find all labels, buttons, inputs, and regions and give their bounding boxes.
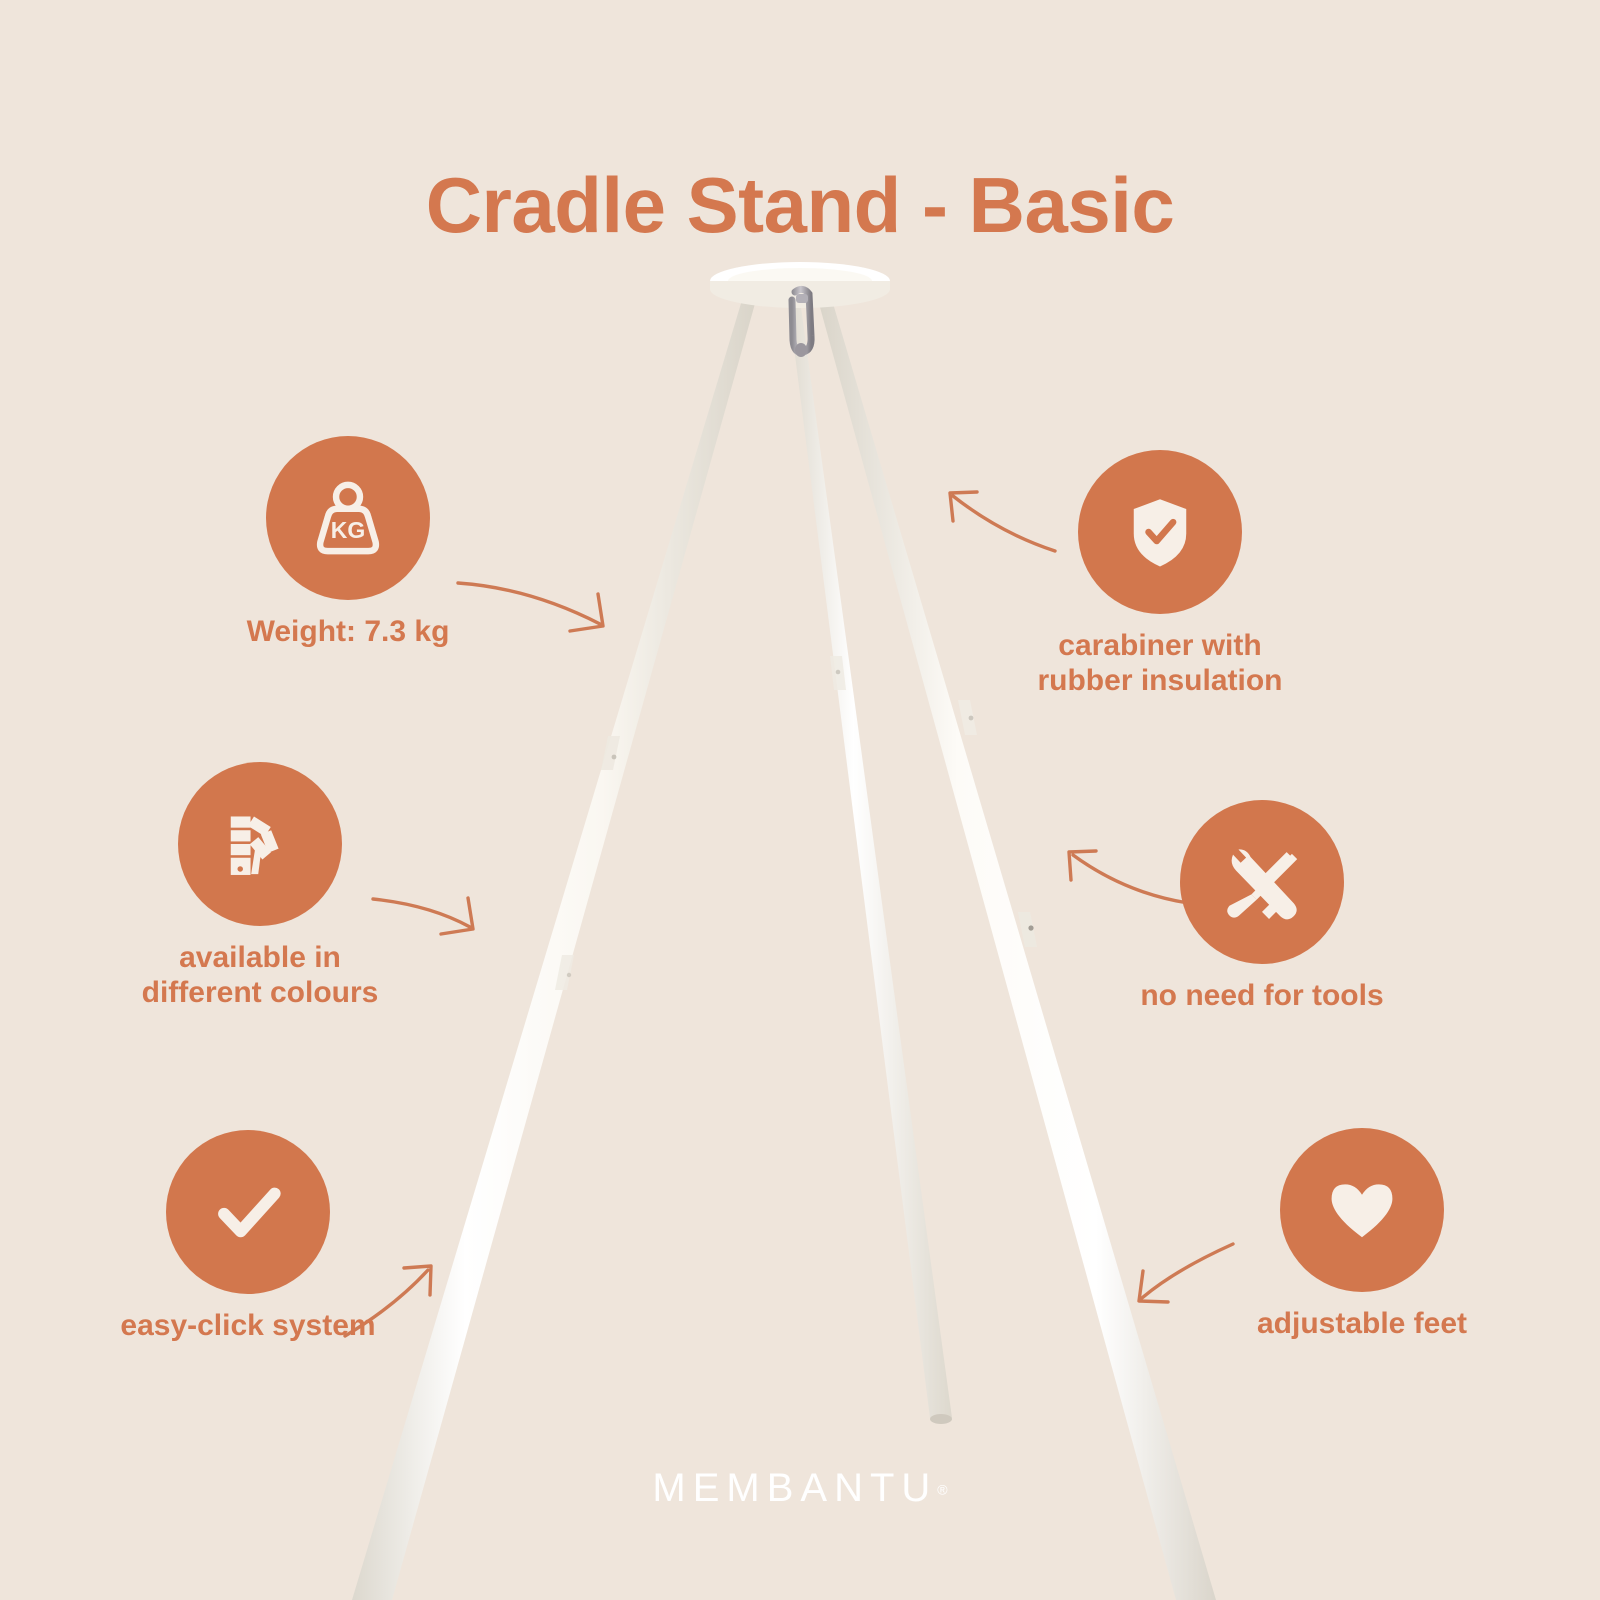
weight-kg-icon: KG [302, 472, 394, 564]
feature-adjustable-feet-badge [1280, 1128, 1444, 1292]
feature-tools-badge [1180, 800, 1344, 964]
feature-carabiner-badge [1078, 450, 1242, 614]
feature-weight[interactable]: KG Weight: 7.3 kg [148, 436, 548, 649]
carabiner [792, 289, 811, 357]
feature-weight-label: Weight: 7.3 kg [148, 614, 548, 649]
feature-colours[interactable]: available in different colours [60, 762, 460, 1011]
feature-weight-badge: KG [266, 436, 430, 600]
feature-easy-click-label: easy-click system [48, 1308, 448, 1343]
svg-text:KG: KG [331, 517, 366, 543]
colour-swatch-fan-icon [217, 801, 303, 887]
checkmark-icon [202, 1166, 294, 1258]
heart-icon [1322, 1170, 1402, 1250]
infographic-canvas: Cradle Stand - Basic [0, 0, 1600, 1600]
feature-tools-label: no need for tools [1062, 978, 1462, 1013]
tripod-leg-center [788, 300, 952, 1424]
feature-carabiner[interactable]: carabiner with rubber insulation [960, 450, 1360, 699]
tripod-top-hub [710, 262, 890, 308]
feature-tools[interactable]: no need for tools [1062, 800, 1462, 1013]
feature-adjustable-feet-label: adjustable feet [1162, 1306, 1562, 1341]
feature-colours-label: available in different colours [60, 940, 460, 1011]
brand-wordmark: MEMBANTU [652, 1466, 937, 1511]
page-title: Cradle Stand - Basic [0, 160, 1600, 251]
feature-adjustable-feet[interactable]: adjustable feet [1162, 1128, 1562, 1341]
wrench-screwdriver-icon [1218, 838, 1306, 926]
shield-check-icon [1119, 491, 1201, 573]
feature-carabiner-label: carabiner with rubber insulation [960, 628, 1360, 699]
brand-logo: MEMBANTU® [0, 1466, 1600, 1511]
registered-mark: ® [937, 1482, 947, 1498]
feature-easy-click[interactable]: easy-click system [48, 1130, 448, 1343]
feature-easy-click-badge [166, 1130, 330, 1294]
feature-colours-badge [178, 762, 342, 926]
